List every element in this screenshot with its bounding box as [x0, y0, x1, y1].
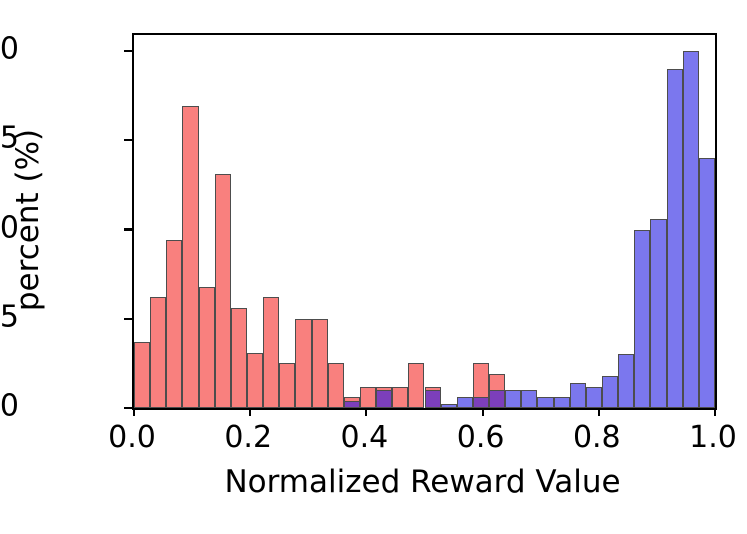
histogram-bar-red: [231, 308, 247, 408]
y-tick-3: [124, 139, 132, 141]
histogram-bar-overlap: [344, 401, 360, 408]
histogram-bar-red: [182, 106, 198, 408]
y-tick-0: [124, 407, 132, 409]
histogram-bar-blue: [650, 219, 666, 408]
histogram-bar-red: [247, 353, 263, 408]
histogram-bar-blue: [441, 404, 457, 408]
histogram-bar-red: [215, 174, 231, 408]
y-tick-label-2: 10: [0, 210, 19, 245]
histogram-bar-blue: [570, 383, 586, 408]
histogram-bar-blue: [521, 390, 537, 408]
histogram-bar-blue: [457, 397, 473, 408]
x-tick-4: [598, 408, 600, 416]
x-tick-2: [365, 408, 367, 416]
histogram-bar-red: [199, 287, 215, 408]
y-tick-2: [124, 228, 132, 230]
histogram-bar-red: [312, 319, 328, 408]
plot-area: [132, 33, 717, 410]
y-tick-4: [124, 50, 132, 52]
histogram-bar-red: [360, 387, 376, 408]
histogram-bar-red: [166, 240, 182, 408]
x-tick-label-5: 1.0: [689, 420, 737, 455]
histogram-bar-blue: [602, 376, 618, 408]
x-tick-label-4: 0.8: [573, 420, 621, 455]
histogram-bar-overlap: [489, 390, 505, 408]
y-tick-label-4: 20: [0, 32, 19, 67]
x-axis-label-text: Normalized Reward Value: [224, 464, 620, 500]
y-tick-1: [124, 318, 132, 320]
histogram-bar-blue: [586, 387, 602, 408]
y-tick-label-0: 0: [0, 389, 19, 424]
x-tick-5: [714, 408, 716, 416]
histogram-bar-overlap: [473, 397, 489, 408]
histogram-bar-blue: [683, 51, 699, 408]
histogram-bar-red: [263, 297, 279, 408]
histogram-bar-blue: [554, 397, 570, 408]
histogram-bar-red: [408, 363, 424, 408]
x-tick-3: [482, 408, 484, 416]
x-tick-0: [133, 408, 135, 416]
histogram-bar-red: [150, 297, 166, 408]
y-tick-label-1: 5: [0, 299, 19, 334]
x-tick-label-1: 0.2: [224, 420, 272, 455]
histogram-bar-red: [392, 387, 408, 408]
histogram-bar-blue: [537, 397, 553, 408]
histogram-bar-overlap: [425, 390, 441, 408]
histogram-bar-red: [279, 363, 295, 408]
y-tick-label-3: 15: [0, 121, 19, 156]
x-axis-label: Normalized Reward Value: [132, 464, 713, 500]
histogram-bar-overlap: [376, 390, 392, 408]
histogram-bar-blue: [699, 158, 715, 408]
histogram-bar-blue: [667, 69, 683, 408]
histogram-figure: percent (%) 0.00.20.40.60.81.005101520 N…: [0, 0, 747, 534]
histogram-bar-red: [134, 342, 150, 408]
histogram-bar-blue: [634, 230, 650, 408]
x-tick-label-3: 0.6: [457, 420, 505, 455]
x-tick-label-0: 0.0: [108, 420, 156, 455]
histogram-bar-blue: [618, 354, 634, 408]
bars-layer: [134, 35, 715, 408]
x-tick-1: [249, 408, 251, 416]
histogram-bar-red: [328, 363, 344, 408]
histogram-bar-red: [295, 319, 311, 408]
x-tick-label-2: 0.4: [341, 420, 389, 455]
histogram-bar-blue: [505, 390, 521, 408]
